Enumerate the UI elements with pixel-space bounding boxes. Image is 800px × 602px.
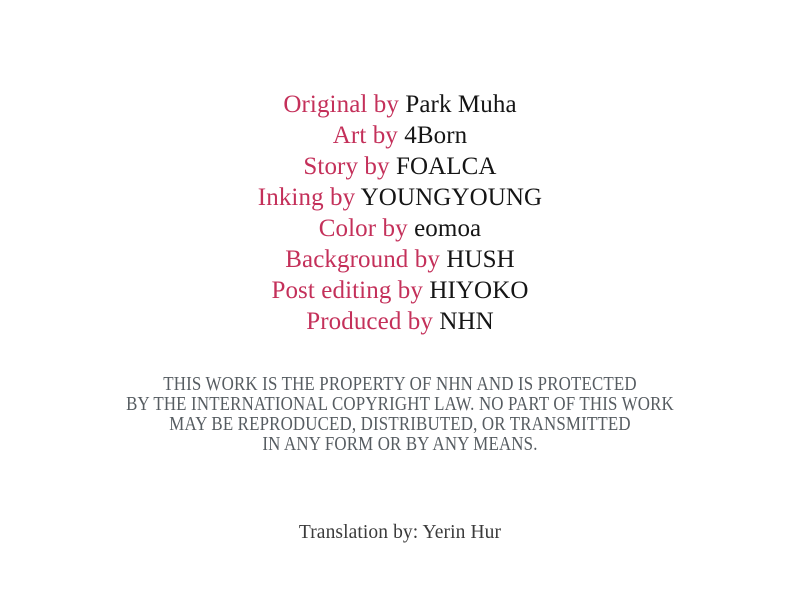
credit-role-label: Background by xyxy=(285,246,446,273)
credit-name-value: NHN xyxy=(439,308,493,335)
credits-block: Original by Park Muha Art by 4Born Story… xyxy=(0,89,800,337)
credit-role-label: Color by xyxy=(319,215,414,242)
credit-line: Background by HUSH xyxy=(0,244,800,275)
credit-line: Original by Park Muha xyxy=(0,89,800,120)
credit-role-label: Inking by xyxy=(258,184,361,211)
credits-page: Original by Park Muha Art by 4Born Story… xyxy=(0,0,800,602)
copyright-line: MAY BE REPRODUCED, DISTRIBUTED, OR TRANS… xyxy=(54,415,746,435)
credit-role-label: Produced by xyxy=(306,308,439,335)
credit-line: Post editing by HIYOKO xyxy=(0,275,800,306)
credit-line: Art by 4Born xyxy=(0,120,800,151)
credit-name-value: FOALCA xyxy=(396,153,497,180)
credit-name-value: 4Born xyxy=(404,122,467,149)
credit-line: Produced by NHN xyxy=(0,306,800,337)
copyright-line: IN ANY FORM OR BY ANY MEANS. xyxy=(54,435,746,455)
translation-credit: Translation by: Yerin Hur xyxy=(0,520,800,546)
credit-name-value: Park Muha xyxy=(405,91,516,118)
copyright-line: BY THE INTERNATIONAL COPYRIGHT LAW. NO P… xyxy=(54,395,746,415)
credit-name-value: YOUNGYOUNG xyxy=(361,184,543,211)
credit-role-label: Original by xyxy=(283,91,405,118)
credit-role-label: Story by xyxy=(303,153,396,180)
credit-role-label: Art by xyxy=(333,122,405,149)
copyright-notice: THIS WORK IS THE PROPERTY OF NHN AND IS … xyxy=(0,375,800,455)
credit-name-value: eomoa xyxy=(414,215,481,242)
credit-line: Inking by YOUNGYOUNG xyxy=(0,182,800,213)
credit-name-value: HIYOKO xyxy=(429,277,528,304)
credit-line: Story by FOALCA xyxy=(0,151,800,182)
credit-line: Color by eomoa xyxy=(0,213,800,244)
copyright-line: THIS WORK IS THE PROPERTY OF NHN AND IS … xyxy=(54,375,746,395)
credit-role-label: Post editing by xyxy=(271,277,429,304)
translation-credit-text: Translation by: Yerin Hur xyxy=(299,520,501,546)
credit-name-value: HUSH xyxy=(446,246,514,273)
